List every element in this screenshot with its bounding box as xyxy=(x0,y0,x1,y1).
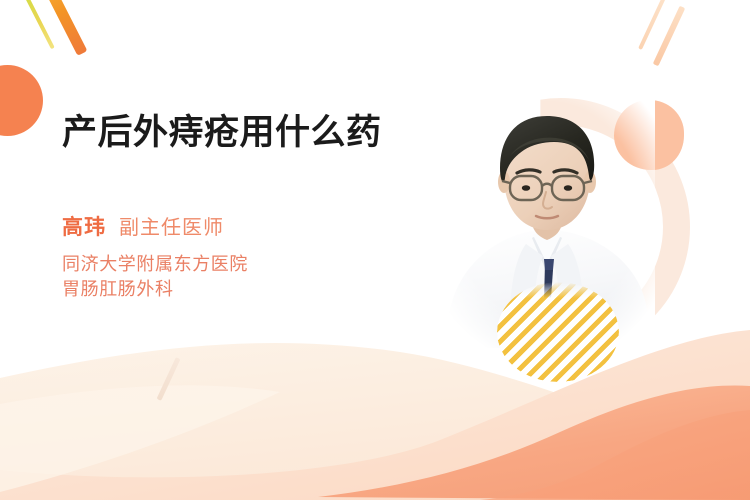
orange-circle-icon xyxy=(0,65,43,136)
page-title: 产后外痔疮用什么药 xyxy=(62,112,412,155)
diagonal-stripe-faint-icon xyxy=(157,357,181,401)
doctor-affiliation: 同济大学附属东方医院 胃肠肛肠外科 xyxy=(62,252,412,302)
doctor-name: 高玮 xyxy=(62,211,106,241)
cover-text-block: 产后外痔疮用什么药 高玮 副主任医师 同济大学附属东方医院 胃肠肛肠外科 xyxy=(62,112,412,302)
video-cover-card: 产后外痔疮用什么药 高玮 副主任医师 同济大学附属东方医院 胃肠肛肠外科 xyxy=(0,0,750,500)
diagonal-stripe-orange-icon xyxy=(40,0,88,56)
striped-circle-icon xyxy=(497,282,619,382)
doctor-title: 副主任医师 xyxy=(119,211,224,240)
diagonal-stripe-peach-a-icon xyxy=(638,0,668,50)
doctor-hospital: 同济大学附属东方医院 xyxy=(62,252,412,277)
doctor-department: 胃肠肛肠外科 xyxy=(62,277,412,302)
diagonal-stripe-peach-b-icon xyxy=(653,6,685,67)
diagonal-stripe-green-icon xyxy=(21,0,55,49)
doctor-credential-row: 高玮 副主任医师 xyxy=(62,211,412,241)
